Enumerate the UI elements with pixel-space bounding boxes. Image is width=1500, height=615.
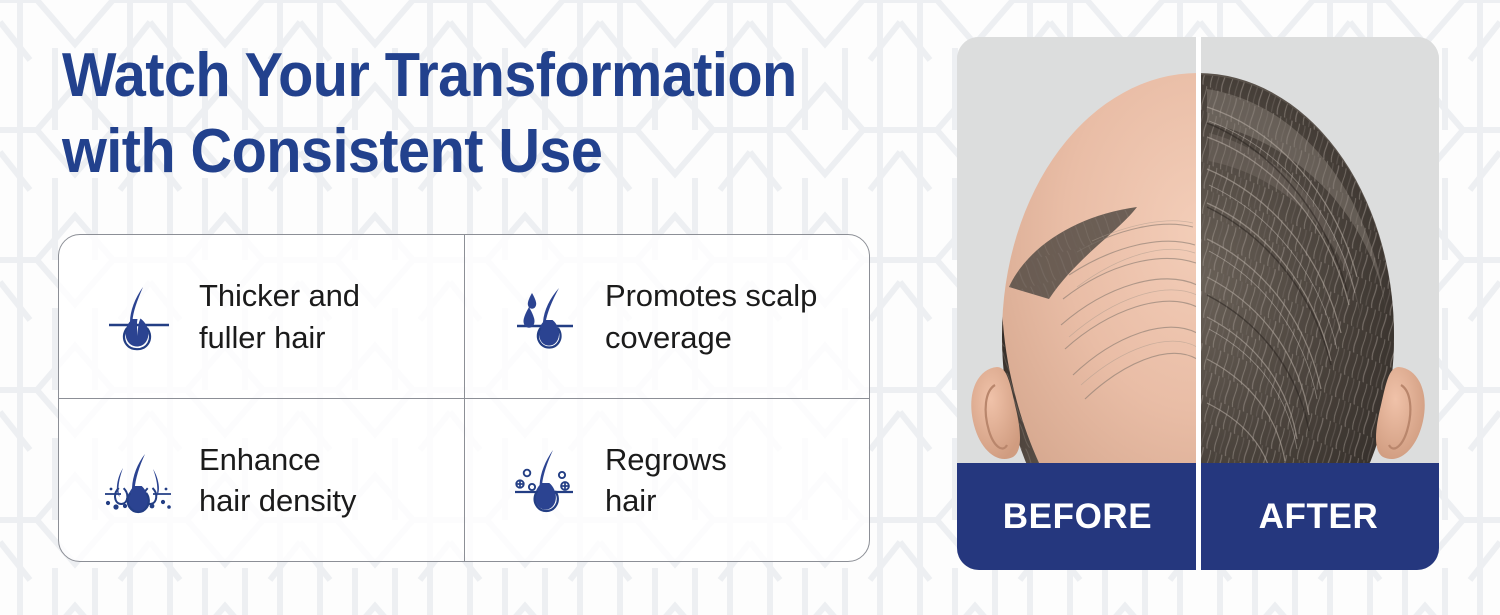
page-title: Watch Your Transformation with Consisten… (62, 38, 853, 189)
benefits-card: Thicker and fuller hair (58, 234, 870, 562)
headline-line-1: Watch Your Transformation (62, 38, 853, 114)
hair-follicle-icon (97, 275, 181, 359)
benefit-label-line-2: fuller hair (199, 317, 360, 358)
benefit-label-line-2: hair (605, 480, 727, 521)
benefit-label: Promotes scalp coverage (605, 275, 817, 357)
before-label: BEFORE (957, 463, 1198, 570)
benefit-item-enhance-hair-density: Enhance hair density (59, 398, 464, 561)
benefit-label-line-2: coverage (605, 317, 817, 358)
before-after-panel: BEFORE AFTER (957, 37, 1439, 570)
hair-follicle-sparkles-icon (503, 438, 587, 522)
hair-follicle-density-icon (97, 438, 181, 522)
benefit-label-line-1: Promotes scalp (605, 275, 817, 316)
benefit-item-regrows-hair: Regrows hair (464, 398, 869, 561)
benefit-label: Thicker and fuller hair (199, 275, 360, 357)
headline-line-2: with Consistent Use (62, 114, 853, 190)
benefit-item-thicker-fuller-hair: Thicker and fuller hair (59, 235, 464, 398)
after-label: AFTER (1198, 463, 1439, 570)
benefit-item-promotes-scalp-coverage: Promotes scalp coverage (464, 235, 869, 398)
benefit-label-line-1: Thicker and (199, 275, 360, 316)
benefit-label-line-2: hair density (199, 480, 356, 521)
benefit-label-line-1: Enhance (199, 439, 356, 480)
benefit-label: Regrows hair (605, 439, 727, 521)
benefit-label: Enhance hair density (199, 439, 356, 521)
hair-follicle-droplets-icon (503, 275, 587, 359)
benefit-label-line-1: Regrows (605, 439, 727, 480)
promo-banner: Watch Your Transformation with Consisten… (0, 0, 1500, 615)
before-after-divider (1196, 37, 1201, 570)
